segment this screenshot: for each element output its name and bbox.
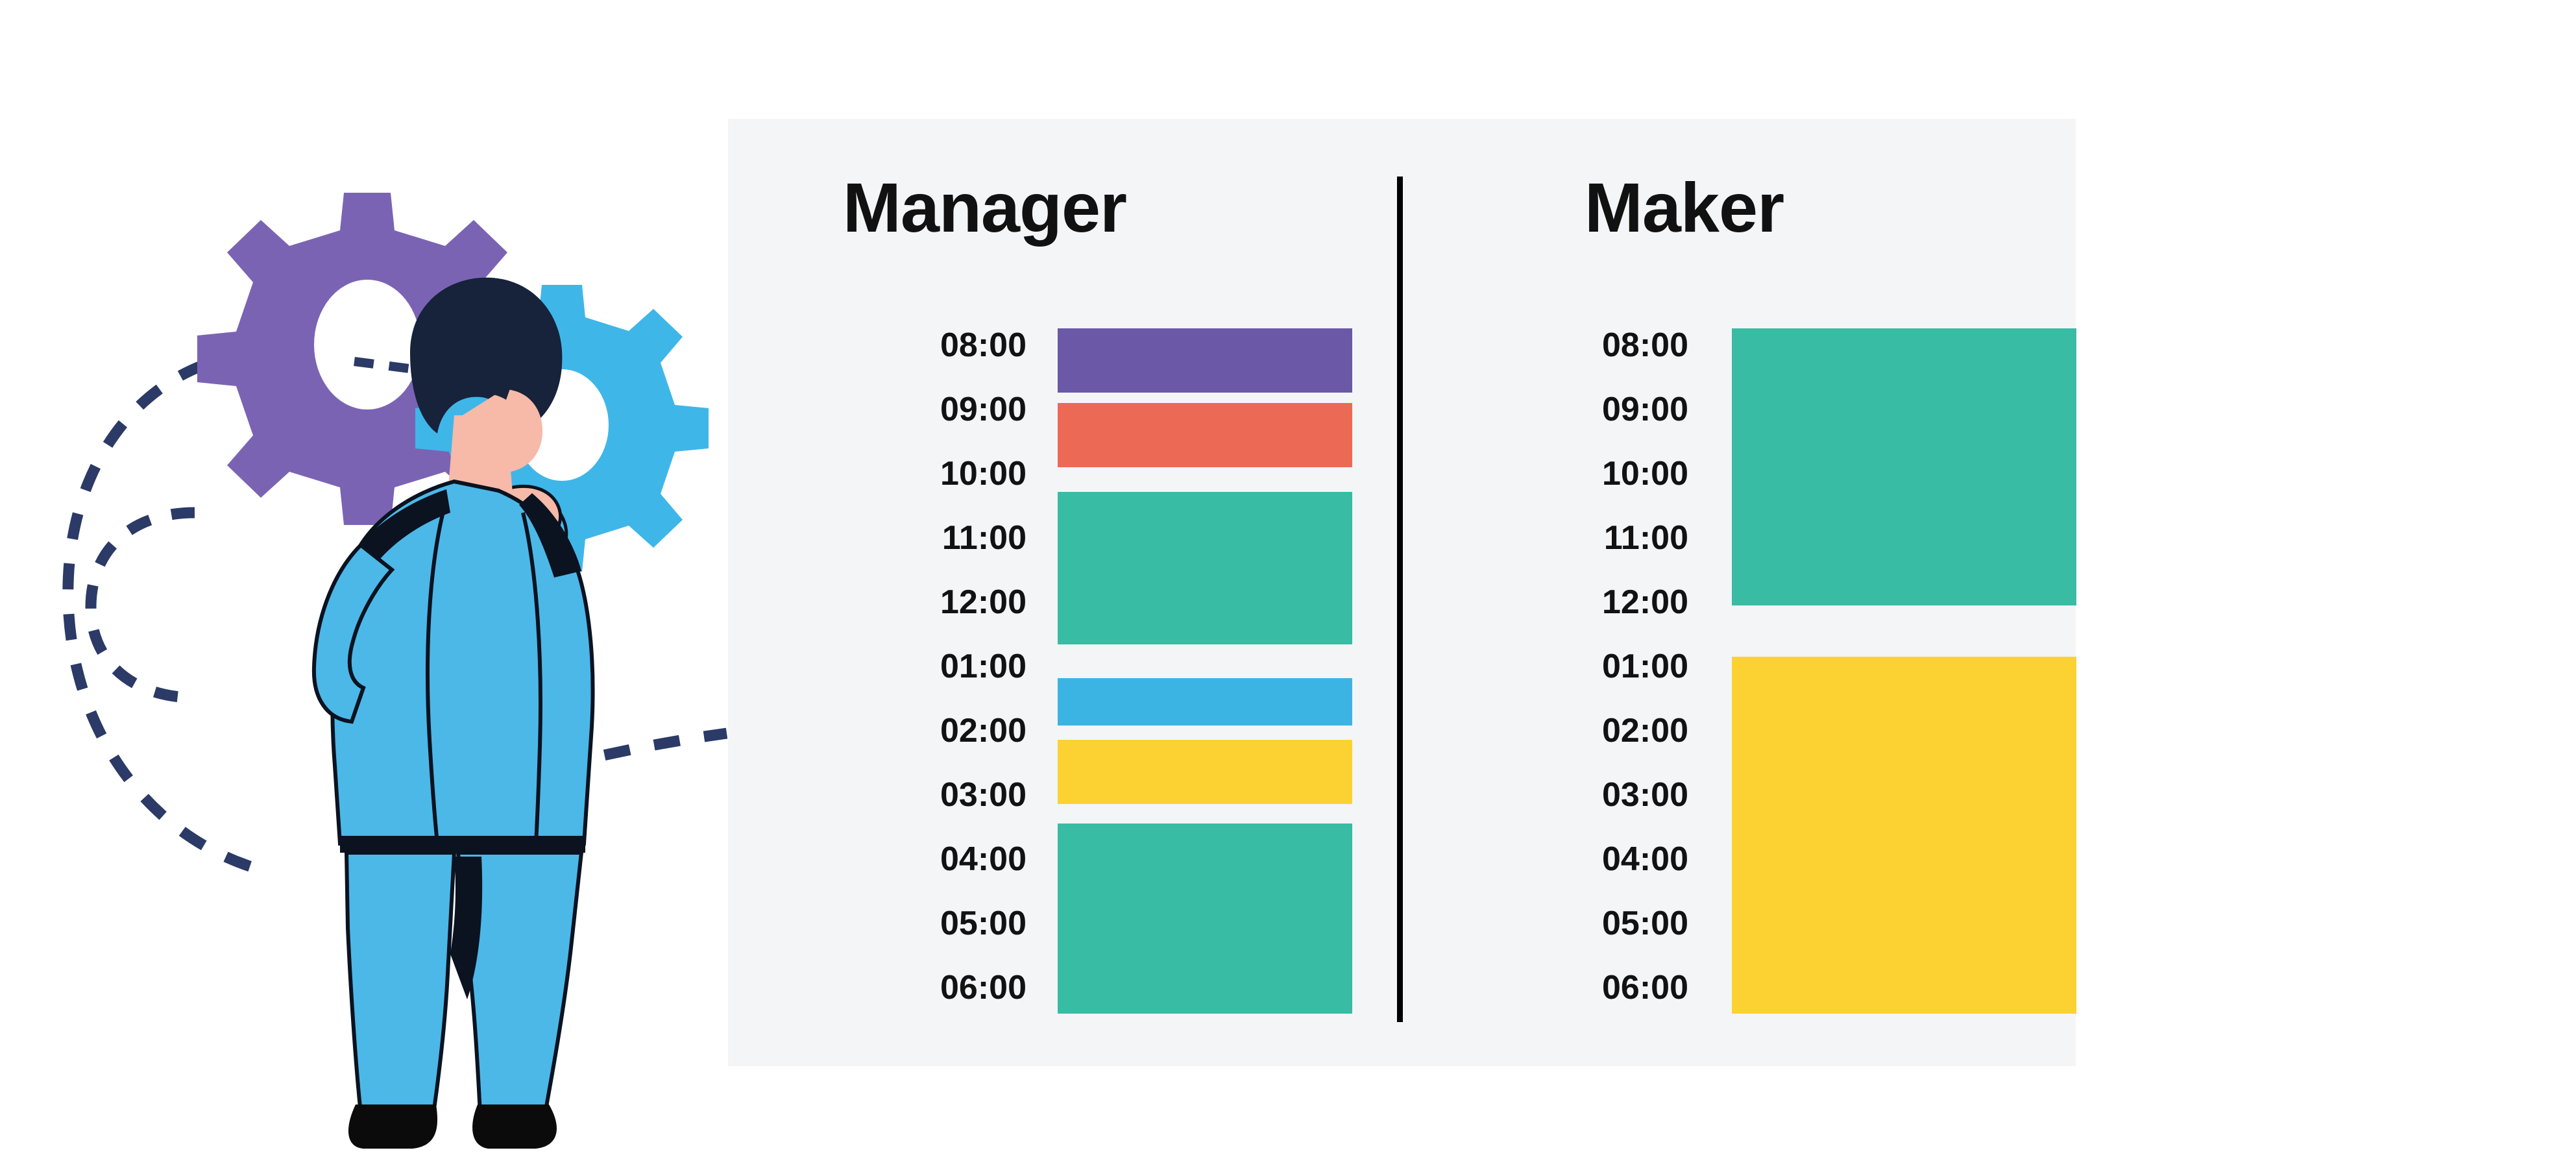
dashed-small-circle-path [91, 513, 195, 698]
maker-column-title: Maker [1403, 169, 2076, 247]
time-label-0400: 04:00 [838, 842, 1027, 876]
column-manager: Manager 08:00 09:00 10:00 11:00 12:00 01… [728, 119, 1397, 1066]
time-label-0900: 09:00 [838, 393, 1027, 426]
maker-blocks [1732, 328, 2076, 1014]
time-label-1000: 10:00 [1523, 457, 1688, 491]
manager-block-purple[interactable] [1058, 328, 1352, 393]
manager-blocks [1058, 328, 1352, 1014]
column-divider [1397, 177, 1403, 1022]
illustration-thinking-man [0, 0, 728, 1159]
time-label-0300: 03:00 [838, 778, 1027, 812]
manager-column-title: Manager [728, 169, 1397, 247]
time-label-0400: 04:00 [1523, 842, 1688, 876]
maker-schedule-grid: 08:00 09:00 10:00 11:00 12:00 01:00 02:0… [1523, 328, 2048, 1014]
manager-block-teal-pm[interactable] [1058, 823, 1352, 1014]
time-label-0900: 09:00 [1523, 393, 1688, 426]
time-label-1200: 12:00 [1523, 585, 1688, 619]
dashed-circle-path [68, 354, 273, 873]
schedule-panel: Manager 08:00 09:00 10:00 11:00 12:00 01… [728, 119, 2076, 1066]
time-label-1000: 10:00 [838, 457, 1027, 491]
time-label-0100: 01:00 [838, 650, 1027, 683]
manager-block-blue[interactable] [1058, 678, 1352, 726]
time-label-0200: 02:00 [1523, 714, 1688, 748]
maker-block-teal-morning[interactable] [1732, 328, 2076, 605]
time-label-0600: 06:00 [1523, 971, 1688, 1005]
time-label-1100: 11:00 [1523, 521, 1688, 555]
manager-block-yellow[interactable] [1058, 740, 1352, 804]
time-label-0800: 08:00 [1523, 328, 1688, 362]
time-label-0100: 01:00 [1523, 650, 1688, 683]
manager-schedule-grid: 08:00 09:00 10:00 11:00 12:00 01:00 02:0… [838, 328, 1385, 1014]
maker-block-yellow-after[interactable] [1732, 657, 2076, 1014]
time-label-0200: 02:00 [838, 714, 1027, 748]
time-label-1100: 11:00 [838, 521, 1027, 555]
time-label-0600: 06:00 [838, 971, 1027, 1005]
manager-block-teal-am[interactable] [1058, 492, 1352, 644]
manager-block-coral[interactable] [1058, 403, 1352, 467]
time-label-0300: 03:00 [1523, 778, 1688, 812]
time-label-0500: 05:00 [1523, 907, 1688, 940]
time-label-0500: 05:00 [838, 907, 1027, 940]
column-maker: Maker 08:00 09:00 10:00 11:00 12:00 01:0… [1403, 119, 2076, 1066]
time-label-1200: 12:00 [838, 585, 1027, 619]
time-label-0800: 08:00 [838, 328, 1027, 362]
